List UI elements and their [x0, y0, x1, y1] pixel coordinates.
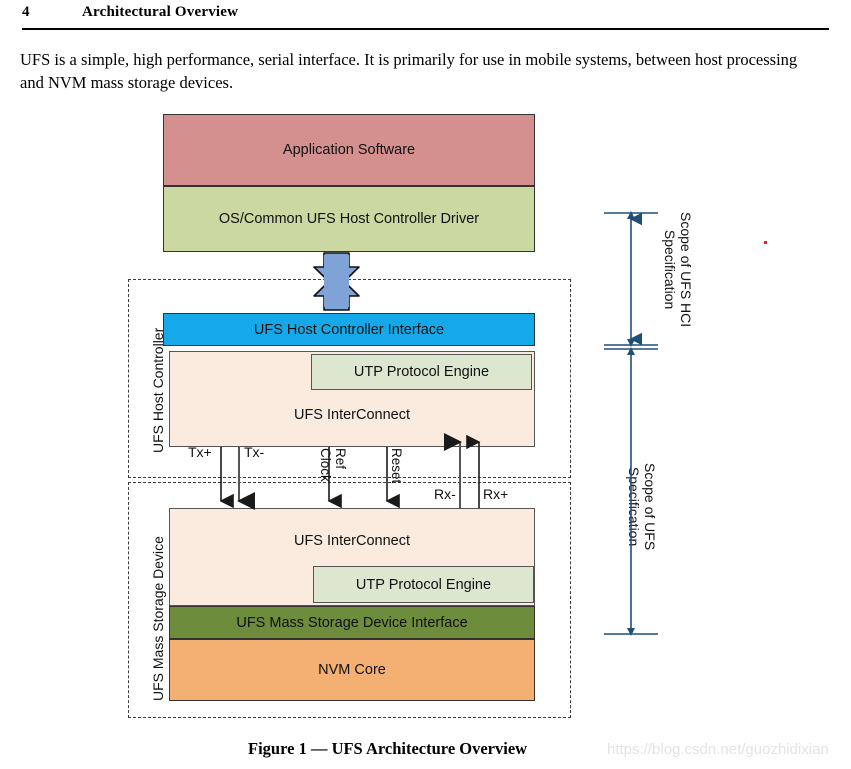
- scope-label-ufs-hci-line1: Scope of UFS HCI: [678, 212, 694, 327]
- block-nvm-core-label: NVM Core: [318, 662, 386, 678]
- section-number: 4: [22, 4, 30, 21]
- signal-label-rx-minus: Rx-: [434, 486, 456, 502]
- group-ufs-mass-storage-device-label: UFS Mass Storage Device: [150, 536, 166, 701]
- watermark: https://blog.csdn.net/guozhidixian: [607, 741, 829, 758]
- block-host-utp-protocol-engine: UTP Protocol Engine: [311, 354, 532, 390]
- block-ufs-mass-storage-device-interface-label: UFS Mass Storage Device Interface: [236, 615, 467, 631]
- scope-label-ufs-spec: Scope of UFS Specification: [626, 463, 658, 550]
- signal-label-clock: Clock: [318, 448, 333, 482]
- signal-label-ref: Ref: [333, 448, 348, 469]
- signal-label-rx-plus: Rx+: [483, 486, 508, 502]
- block-host-controller-driver: OS/Common UFS Host Controller Driver: [163, 186, 535, 252]
- signal-label-reset: Reset: [389, 448, 404, 483]
- scope-label-ufs-spec-line2: Specification: [626, 467, 642, 546]
- block-ufs-host-controller-interface-label: UFS Host Controller Interface: [254, 322, 444, 338]
- group-ufs-host-controller-label: UFS Host Controller: [150, 328, 166, 453]
- scope-label-ufs-hci: Scope of UFS HCI Specification: [662, 212, 694, 327]
- block-device-utp-protocol-engine-label: UTP Protocol Engine: [356, 577, 491, 593]
- red-dot-artifact: [764, 241, 767, 244]
- block-host-controller-driver-label: OS/Common UFS Host Controller Driver: [219, 211, 479, 227]
- signal-label-tx-plus: Tx+: [188, 444, 212, 460]
- scope-label-ufs-spec-line1: Scope of UFS: [642, 463, 658, 550]
- header-divider: [22, 28, 829, 30]
- block-device-utp-protocol-engine: UTP Protocol Engine: [313, 566, 534, 603]
- block-ufs-host-controller-interface: UFS Host Controller Interface: [163, 313, 535, 346]
- block-host-utp-protocol-engine-label: UTP Protocol Engine: [354, 364, 489, 380]
- figure-ufs-architecture: Application Software OS/Common UFS Host …: [0, 105, 851, 725]
- block-ufs-mass-storage-device-interface: UFS Mass Storage Device Interface: [169, 606, 535, 639]
- block-application-software: Application Software: [163, 114, 535, 186]
- scope-label-ufs-hci-line2: Specification: [662, 230, 678, 309]
- page-title: Architectural Overview: [82, 4, 238, 21]
- block-nvm-core: NVM Core: [169, 639, 535, 701]
- block-host-interconnect-label: UFS InterConnect: [170, 407, 534, 423]
- block-application-software-label: Application Software: [283, 142, 415, 158]
- intro-paragraph: UFS is a simple, high performance, seria…: [20, 48, 810, 94]
- block-device-interconnect-label: UFS InterConnect: [170, 533, 534, 549]
- scope-bracket-ufs-hci: [604, 213, 658, 345]
- page-header: 4 Architectural Overview: [22, 4, 829, 30]
- figure-caption: Figure 1 — UFS Architecture Overview: [248, 739, 527, 759]
- signal-label-tx-minus: Tx-: [244, 444, 264, 460]
